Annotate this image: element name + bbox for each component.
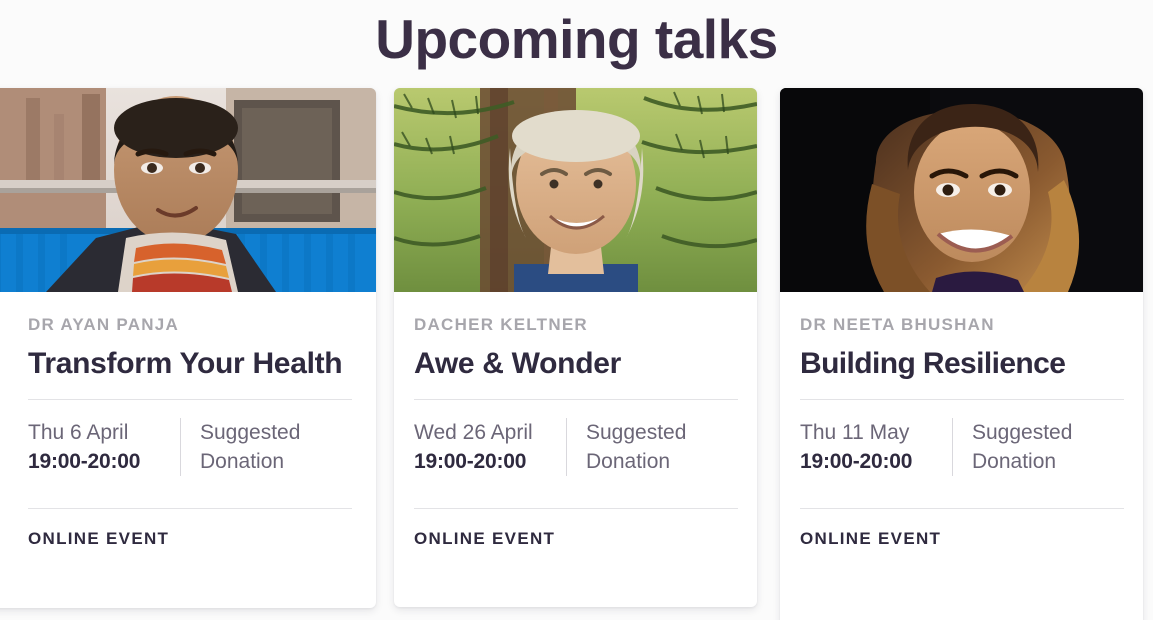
talk-date: Thu 6 April [28,418,170,447]
event-type-badge: ONLINE EVENT [414,509,735,549]
talk-time: 19:00-20:00 [414,447,556,476]
talk-date: Wed 26 April [414,418,556,447]
talk-title: Transform Your Health [28,344,352,383]
event-type-badge: ONLINE EVENT [800,509,1121,549]
talk-meta: Thu 6 April 19:00-20:00 Suggested Donati… [28,400,352,492]
talk-time: 19:00-20:00 [28,447,170,476]
talk-card[interactable]: DACHER KELTNER Awe & Wonder Wed 26 April… [394,88,757,607]
talk-card-body: DR AYAN PANJA Transform Your Health Thu … [0,292,376,549]
talk-price: Suggested Donation [972,418,1121,476]
talk-price-label: Suggested Donation [200,418,352,476]
talk-card-grid: DR AYAN PANJA Transform Your Health Thu … [0,88,1153,620]
talk-price-label: Suggested Donation [586,418,735,476]
talk-card[interactable]: DR NEETA BHUSHAN Building Resilience Thu… [780,88,1143,620]
speaker-name: DACHER KELTNER [414,314,735,336]
talk-price: Suggested Donation [586,418,735,476]
meta-separator [952,418,953,476]
talk-card-body: DACHER KELTNER Awe & Wonder Wed 26 April… [394,292,757,549]
talk-meta: Thu 11 May 19:00-20:00 Suggested Donatio… [800,400,1121,492]
speaker-photo [0,88,376,292]
page-title: Upcoming talks [0,4,1153,74]
upcoming-talks-page: Upcoming talks [0,0,1153,620]
talk-schedule: Thu 11 May 19:00-20:00 [800,418,952,476]
talk-title: Building Resilience [800,344,1121,383]
talk-date: Thu 11 May [800,418,942,447]
talk-price: Suggested Donation [200,418,352,476]
speaker-photo [780,88,1143,292]
talk-time: 19:00-20:00 [800,447,942,476]
talk-title: Awe & Wonder [414,344,735,383]
meta-separator [180,418,181,476]
talk-schedule: Thu 6 April 19:00-20:00 [28,418,180,476]
talk-price-label: Suggested Donation [972,418,1121,476]
speaker-name: DR AYAN PANJA [28,314,352,336]
event-type-badge: ONLINE EVENT [28,509,352,549]
talk-meta: Wed 26 April 19:00-20:00 Suggested Donat… [414,400,735,492]
speaker-name: DR NEETA BHUSHAN [800,314,1121,336]
speaker-photo [394,88,757,292]
talk-card[interactable]: DR AYAN PANJA Transform Your Health Thu … [0,88,376,608]
talk-schedule: Wed 26 April 19:00-20:00 [414,418,566,476]
talk-card-body: DR NEETA BHUSHAN Building Resilience Thu… [780,292,1143,549]
meta-separator [566,418,567,476]
